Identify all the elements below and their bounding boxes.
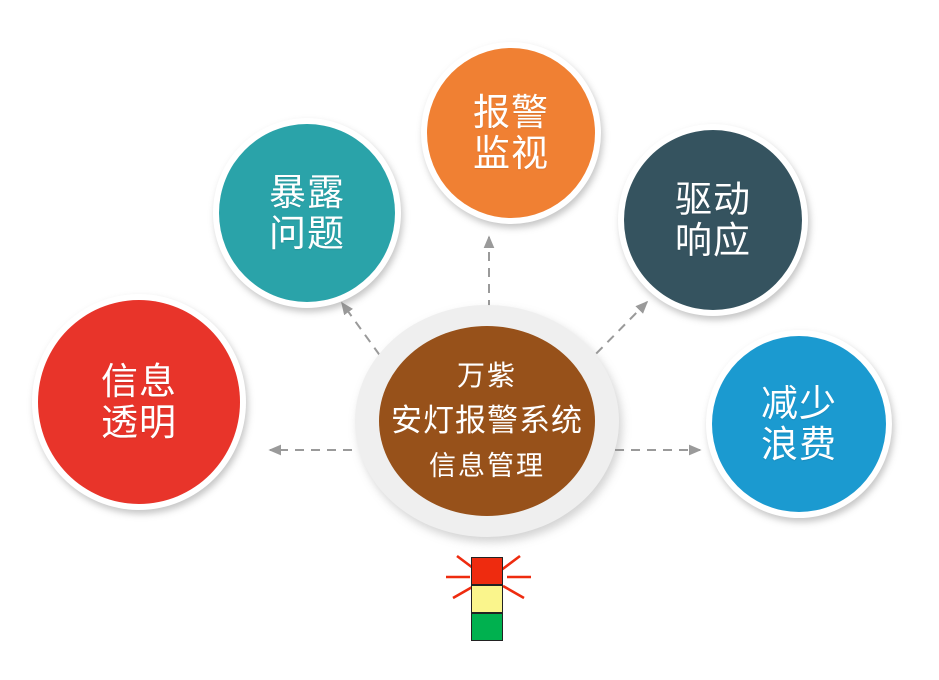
diagram-canvas: 暴露 问题 报警 监视 驱动 响应 信息 透明 减少 浪费 万紫 安灯报警系统 … [0, 0, 939, 680]
node-reduce-waste[interactable]: 减少 浪费 [706, 330, 892, 518]
andon-light-tower-icon[interactable] [471, 557, 505, 647]
hub-line-system: 安灯报警系统 [391, 404, 583, 439]
hub-line-brand: 万紫 [457, 360, 517, 391]
andon-lamp-green-icon [471, 613, 503, 641]
hub-text-block: 万紫 安灯报警系统 信息管理 [391, 360, 583, 482]
node-expose-problems-label: 暴露 问题 [269, 172, 345, 255]
node-expose-problems[interactable]: 暴露 问题 [213, 118, 401, 308]
andon-lamp-red-icon [471, 557, 503, 585]
node-information-transparency[interactable]: 信息 透明 [32, 294, 246, 510]
node-alarm-monitoring[interactable]: 报警 监视 [421, 42, 601, 224]
node-reduce-waste-label: 减少 浪费 [761, 383, 837, 466]
node-information-transparency-label: 信息 透明 [101, 361, 177, 444]
node-drive-response-label: 驱动 响应 [675, 179, 751, 262]
andon-lamp-yellow-icon [471, 585, 503, 613]
hub-andon-system[interactable]: 万紫 安灯报警系统 信息管理 [355, 305, 619, 537]
node-alarm-monitoring-label: 报警 监视 [473, 92, 549, 175]
node-drive-response[interactable]: 驱动 响应 [618, 124, 808, 316]
hub-line-management: 信息管理 [429, 452, 545, 482]
